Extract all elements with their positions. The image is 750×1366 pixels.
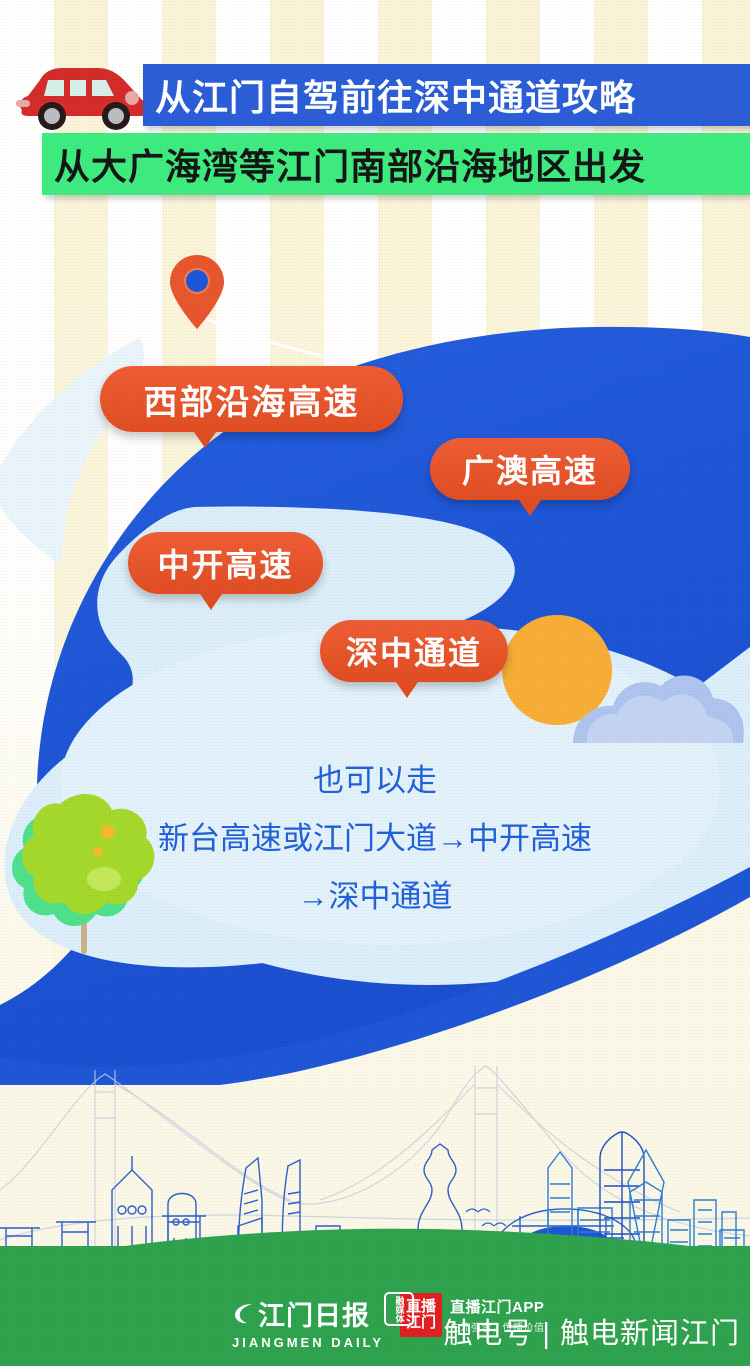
moon-swirl-icon (232, 1301, 258, 1327)
sun-cloud-group (495, 608, 750, 743)
route-badge-guangao[interactable]: 广澳高速 (430, 438, 630, 500)
alt-route-line-3: →深中通道 (0, 868, 750, 926)
location-pin-icon (168, 253, 226, 331)
route-badge-xibu[interactable]: 西部沿海高速 (100, 366, 403, 432)
route-badge-zhongkai[interactable]: 中开高速 (128, 532, 323, 594)
route-badge-label: 西部沿海高速 (144, 375, 360, 424)
media-badge: 融媒体 (384, 1292, 414, 1326)
media-badge-label: 融媒体 (394, 1296, 405, 1323)
alt-route-line-1: 也可以走 (0, 752, 750, 810)
footer-right-text: 触电号 | 触电新闻江门 (443, 1310, 740, 1352)
poster-root: 从江门自驾前往深中通道攻略 从大广海湾等江门南部沿海地区出发 西部沿海高速 广澳… (0, 0, 750, 1366)
jiangmen-daily-cn: 江门日报 (258, 1294, 370, 1333)
title-line-1: 从江门自驾前往深中通道攻略 (155, 69, 636, 121)
jiangmen-daily-en: JIANGMEN DAILY (232, 1335, 412, 1350)
header: 从江门自驾前往深中通道攻略 从大广海湾等江门南部沿海地区出发 (0, 0, 750, 200)
title-line-2: 从大广海湾等江门南部沿海地区出发 (54, 138, 646, 190)
title-banner-secondary: 从大广海湾等江门南部沿海地区出发 (42, 133, 750, 195)
route-badge-label: 中开高速 (157, 540, 293, 586)
alt-route-line-2: 新台高速或江门大道→中开高速 (0, 810, 750, 868)
route-badge-label: 深中通道 (346, 628, 482, 674)
route-badge-label: 广澳高速 (462, 446, 598, 492)
red-car-icon (14, 58, 154, 138)
route-badge-shenzhong[interactable]: 深中通道 (320, 620, 508, 682)
title-banner-primary: 从江门自驾前往深中通道攻略 (143, 64, 750, 126)
alternate-route-text: 也可以走 新台高速或江门大道→中开高速 →深中通道 (0, 752, 750, 926)
